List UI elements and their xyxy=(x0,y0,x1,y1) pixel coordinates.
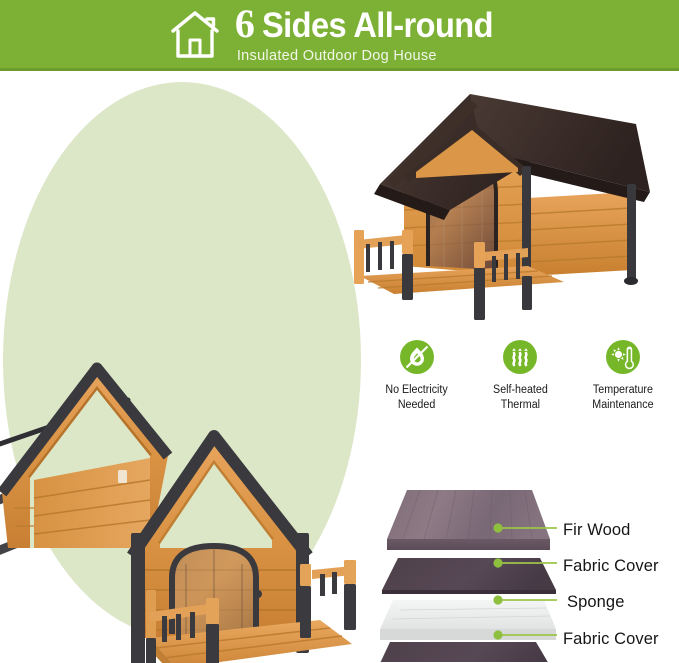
thermometer-sun-icon xyxy=(606,340,640,374)
no-electricity-icon xyxy=(400,340,434,374)
feature-label-no-electricity: No Electricity Needed xyxy=(386,383,448,413)
banner-title: Sides All-round xyxy=(262,8,493,43)
feature-line2: Thermal xyxy=(500,399,539,411)
heat-waves-icon xyxy=(503,340,537,374)
feature-line1: No Electricity xyxy=(386,384,448,396)
feature-line2: Maintenance xyxy=(592,399,653,411)
banner-count: 6 xyxy=(235,4,255,44)
layer-label-sponge: Sponge xyxy=(567,593,625,612)
feature-item-no-electricity: No Electricity Needed xyxy=(370,340,464,435)
product-infographic: 6 Sides All-round Insulated Outdoor Dog … xyxy=(0,0,679,663)
feature-line2: Needed xyxy=(398,399,435,411)
layer-label-fir-wood: Fir Wood xyxy=(563,521,630,540)
feature-item-temperature: Temperature Maintenance xyxy=(576,340,670,435)
feature-list: No Electricity Needed xyxy=(370,340,670,435)
layer-label-fabric-cover-bottom: Fabric Cover xyxy=(563,630,659,649)
dog-house-photo xyxy=(332,80,679,320)
banner-title-row: 6 Sides All-round xyxy=(235,4,510,44)
banner-subtitle: Insulated Outdoor Dog House xyxy=(237,49,437,64)
feature-label-temperature: Temperature Maintenance xyxy=(592,383,653,413)
house-outline-icon xyxy=(169,9,225,61)
header-banner-underline xyxy=(0,68,679,71)
feature-label-self-heated: Self-heated Thermal xyxy=(493,383,548,413)
dog-house-front-illustration xyxy=(332,80,679,320)
banner-text-block: 6 Sides All-round Insulated Outdoor Dog … xyxy=(235,4,510,64)
feature-item-self-heated: Self-heated Thermal xyxy=(473,340,567,435)
material-layers-diagram: Fir Wood Fabric Cover Sponge Fabric Cove… xyxy=(360,482,679,662)
dog-house-cutaway-illustration xyxy=(0,78,372,663)
feature-line1: Temperature xyxy=(593,384,653,396)
feature-line1: Self-heated xyxy=(493,384,548,396)
layer-label-fabric-cover-top: Fabric Cover xyxy=(563,557,659,576)
hero-photo xyxy=(0,78,372,663)
header-banner-content: 6 Sides All-round Insulated Outdoor Dog … xyxy=(0,0,679,68)
